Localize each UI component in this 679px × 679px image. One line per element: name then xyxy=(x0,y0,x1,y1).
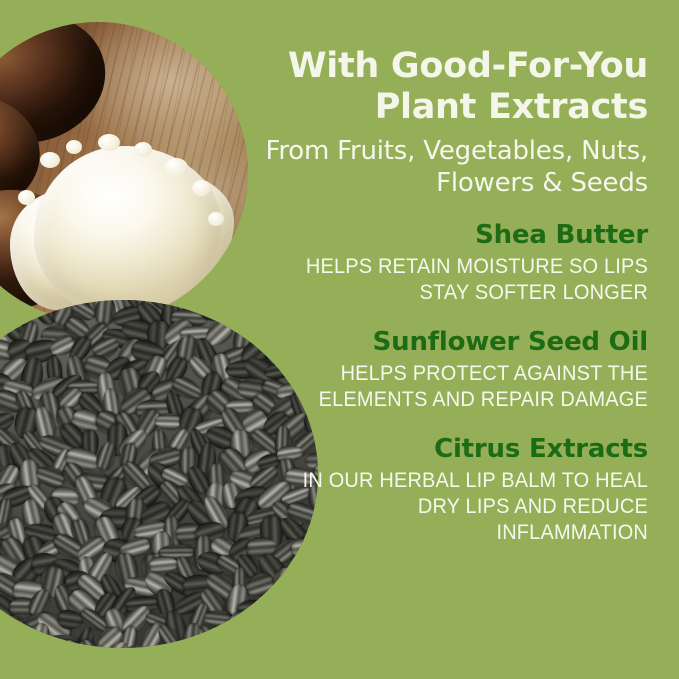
ingredient-block-sunflower-seed-oil: Sunflower Seed Oil HELPS PROTECT AGAINST… xyxy=(248,327,648,413)
butter-crumb xyxy=(40,152,60,168)
ingredient-name: Citrus Extracts xyxy=(248,434,648,465)
page-subtitle: From Fruits, Vegetables, Nuts, Flowers &… xyxy=(248,135,648,199)
promo-image: With Good-For-You Plant Extracts From Fr… xyxy=(0,0,679,679)
sunflower-seed xyxy=(154,413,181,429)
shea-butter-photo xyxy=(0,22,248,322)
ingredient-name: Sunflower Seed Oil xyxy=(248,327,648,358)
butter-crumb xyxy=(66,140,82,154)
butter-crumb xyxy=(208,212,224,226)
ingredient-description: IN OUR HERBAL LIP BALM TO HEAL DRY LIPS … xyxy=(268,468,648,546)
butter-crumb xyxy=(18,190,35,205)
text-column: With Good-For-You Plant Extracts From Fr… xyxy=(248,0,648,546)
ingredient-block-shea-butter: Shea Butter HELPS RETAIN MOISTURE SO LIP… xyxy=(248,220,648,306)
butter-crumb xyxy=(164,158,188,177)
ingredient-description: HELPS RETAIN MOISTURE SO LIPS STAY SOFTE… xyxy=(268,254,648,306)
shea-butter-mound xyxy=(34,146,222,322)
ingredient-block-citrus-extracts: Citrus Extracts IN OUR HERBAL LIP BALM T… xyxy=(248,434,648,546)
ingredient-description: HELPS PROTECT AGAINST THE ELEMENTS AND R… xyxy=(268,361,648,413)
page-title: With Good-For-You Plant Extracts xyxy=(248,46,648,128)
butter-crumb xyxy=(192,180,211,196)
butter-crumb xyxy=(98,134,120,151)
butter-crumb xyxy=(134,142,152,157)
ingredient-name: Shea Butter xyxy=(248,220,648,251)
